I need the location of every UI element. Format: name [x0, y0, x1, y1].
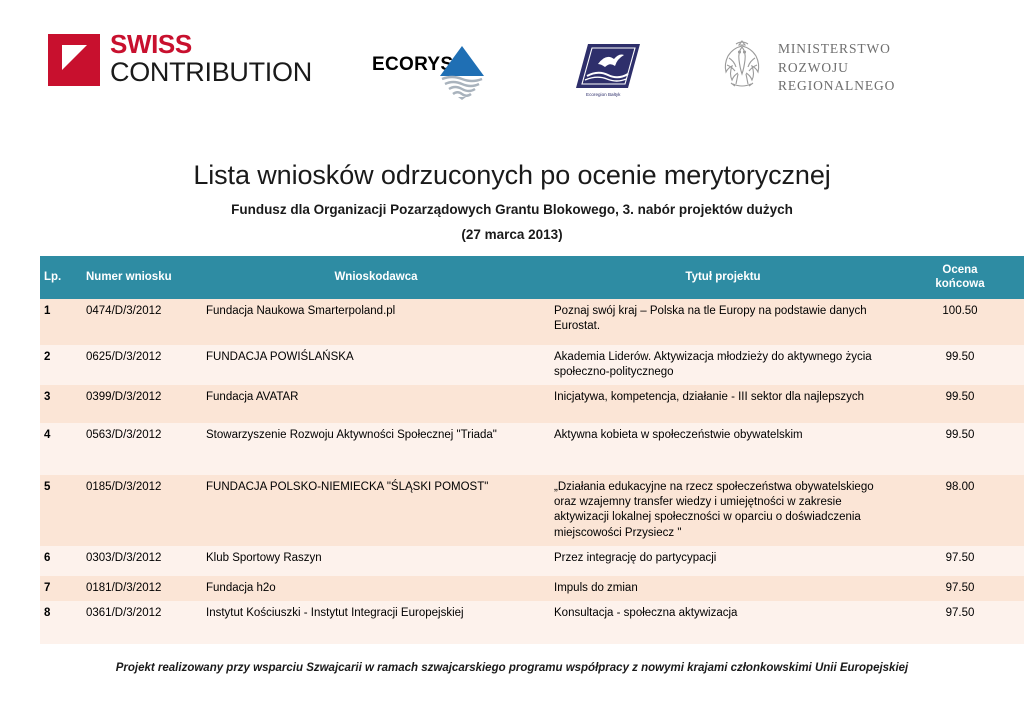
rejected-applications-table: Lp. Numer wniosku Wnioskodawca Tytuł pro… [40, 256, 1024, 644]
column-header-numer-wniosku: Numer wniosku [82, 256, 202, 299]
cell-numer-wniosku: 0563/D/3/2012 [82, 423, 202, 475]
footer-note: Projekt realizowany przy wsparciu Szwajc… [0, 662, 1024, 674]
document-date: (27 marca 2013) [0, 227, 1024, 242]
cell-numer-wniosku: 0181/D/3/2012 [82, 576, 202, 601]
bird-parallelogram-logo: Ecoregion Bałtyk [574, 40, 644, 100]
table-tail-cell [202, 626, 550, 644]
cell-wnioskodawca: Klub Sportowy Raszyn [202, 546, 550, 576]
cell-ocena-koncowa: 98.00 [896, 475, 1024, 546]
cell-ocena-koncowa: 97.50 [896, 546, 1024, 576]
column-header-ocena-koncowa: Ocena końcowa [896, 256, 1024, 299]
cell-wnioskodawca: FUNDACJA POWIŚLAŃSKA [202, 345, 550, 385]
table-header: Lp. Numer wniosku Wnioskodawca Tytuł pro… [40, 256, 1024, 299]
cell-numer-wniosku: 0474/D/3/2012 [82, 299, 202, 345]
cell-ocena-koncowa: 99.50 [896, 385, 1024, 423]
bird-logo-caption: Ecoregion Bałtyk [586, 92, 621, 97]
document-subtitle: Fundusz dla Organizacji Pozarządowych Gr… [0, 202, 1024, 217]
ministry-line3: REGIONALNEGO [778, 77, 895, 96]
cell-lp: 4 [40, 423, 82, 475]
table-tail-row [40, 626, 1024, 644]
seagull-emblem-icon: Ecoregion Bałtyk [574, 40, 644, 100]
cell-tytul-projektu: Akademia Liderów. Aktywizacja młodzieży … [550, 345, 896, 385]
swiss-wordmark-line1: SWISS [110, 31, 312, 57]
cell-ocena-koncowa: 99.50 [896, 423, 1024, 475]
swiss-wordmark-line2: CONTRIBUTION [110, 59, 312, 86]
cell-lp: 1 [40, 299, 82, 345]
table-row: 50185/D/3/2012FUNDACJA POLSKO-NIEMIECKA … [40, 475, 1024, 546]
cell-lp: 7 [40, 576, 82, 601]
cell-lp: 6 [40, 546, 82, 576]
cell-numer-wniosku: 0303/D/3/2012 [82, 546, 202, 576]
cell-ocena-koncowa: 97.50 [896, 601, 1024, 626]
cell-lp: 2 [40, 345, 82, 385]
ecorys-triangle-icon [434, 42, 490, 100]
cell-numer-wniosku: 0185/D/3/2012 [82, 475, 202, 546]
cell-wnioskodawca: Fundacja AVATAR [202, 385, 550, 423]
table-row: 10474/D/3/2012Fundacja Naukowa Smarterpo… [40, 299, 1024, 345]
table-tail-cell [82, 626, 202, 644]
swiss-cross-mark-icon [48, 34, 100, 86]
cell-wnioskodawca: Fundacja h2o [202, 576, 550, 601]
cell-tytul-projektu: Konsultacja - społeczna aktywizacja [550, 601, 896, 626]
ministry-wordmark: MINISTERSTWO ROZWOJU REGIONALNEGO [778, 40, 895, 96]
cell-tytul-projektu: Impuls do zmian [550, 576, 896, 601]
cell-lp: 8 [40, 601, 82, 626]
cell-numer-wniosku: 0399/D/3/2012 [82, 385, 202, 423]
cell-tytul-projektu: „Działania edukacyjne na rzecz społeczeń… [550, 475, 896, 546]
ecorys-logo: ECORYS [372, 42, 492, 100]
swiss-contribution-wordmark: SWISS CONTRIBUTION [110, 31, 312, 86]
column-header-wnioskodawca: Wnioskodawca [202, 256, 550, 299]
cell-wnioskodawca: Fundacja Naukowa Smarterpoland.pl [202, 299, 550, 345]
column-header-tytul-projektu: Tytuł projektu [550, 256, 896, 299]
cell-wnioskodawca: FUNDACJA POLSKO-NIEMIECKA "ŚLĄSKI POMOST… [202, 475, 550, 546]
table-row: 30399/D/3/2012Fundacja AVATARInicjatywa,… [40, 385, 1024, 423]
swiss-contribution-logo: SWISS CONTRIBUTION [48, 34, 308, 102]
cell-ocena-koncowa: 100.50 [896, 299, 1024, 345]
cell-wnioskodawca: Instytut Kościuszki - Instytut Integracj… [202, 601, 550, 626]
cell-tytul-projektu: Aktywna kobieta w społeczeństwie obywate… [550, 423, 896, 475]
table-row: 80361/D/3/2012Instytut Kościuszki - Inst… [40, 601, 1024, 626]
table-row: 40563/D/3/2012Stowarzyszenie Rozwoju Akt… [40, 423, 1024, 475]
cell-ocena-koncowa: 99.50 [896, 345, 1024, 385]
cell-tytul-projektu: Przez integrację do partycypacji [550, 546, 896, 576]
cell-wnioskodawca: Stowarzyszenie Rozwoju Aktywności Społec… [202, 423, 550, 475]
table-row: 20625/D/3/2012FUNDACJA POWIŚLAŃSKAAkadem… [40, 345, 1024, 385]
logo-bar: SWISS CONTRIBUTION ECORYS Ecoregion Bałt… [0, 22, 1024, 112]
applications-table-wrapper: Lp. Numer wniosku Wnioskodawca Tytuł pro… [40, 256, 984, 644]
table-row: 70181/D/3/2012Fundacja h2oImpuls do zmia… [40, 576, 1024, 601]
table-header-row: Lp. Numer wniosku Wnioskodawca Tytuł pro… [40, 256, 1024, 299]
cell-tytul-projektu: Poznaj swój kraj – Polska na tle Europy … [550, 299, 896, 345]
column-header-ocena-line2: końcowa [900, 277, 1020, 291]
cell-tytul-projektu: Inicjatywa, kompetencja, działanie - III… [550, 385, 896, 423]
cell-ocena-koncowa: 97.50 [896, 576, 1024, 601]
cell-lp: 5 [40, 475, 82, 546]
cell-numer-wniosku: 0361/D/3/2012 [82, 601, 202, 626]
ministry-line1: MINISTERSTWO [778, 40, 895, 59]
column-header-ocena-line1: Ocena [900, 263, 1020, 277]
ministry-line2: ROZWOJU [778, 59, 895, 78]
polish-eagle-icon [714, 34, 770, 94]
swiss-mark-notch-icon [62, 45, 87, 70]
table-body: 10474/D/3/2012Fundacja Naukowa Smarterpo… [40, 299, 1024, 644]
table-tail-cell [550, 626, 896, 644]
ministry-of-regional-development-logo: MINISTERSTWO ROZWOJU REGIONALNEGO [714, 34, 964, 96]
table-tail-cell [896, 626, 1024, 644]
table-row: 60303/D/3/2012Klub Sportowy RaszynPrzez … [40, 546, 1024, 576]
table-tail-cell [40, 626, 82, 644]
cell-numer-wniosku: 0625/D/3/2012 [82, 345, 202, 385]
cell-lp: 3 [40, 385, 82, 423]
document-title: Lista wniosków odrzuconych po ocenie mer… [0, 160, 1024, 191]
column-header-lp: Lp. [40, 256, 82, 299]
